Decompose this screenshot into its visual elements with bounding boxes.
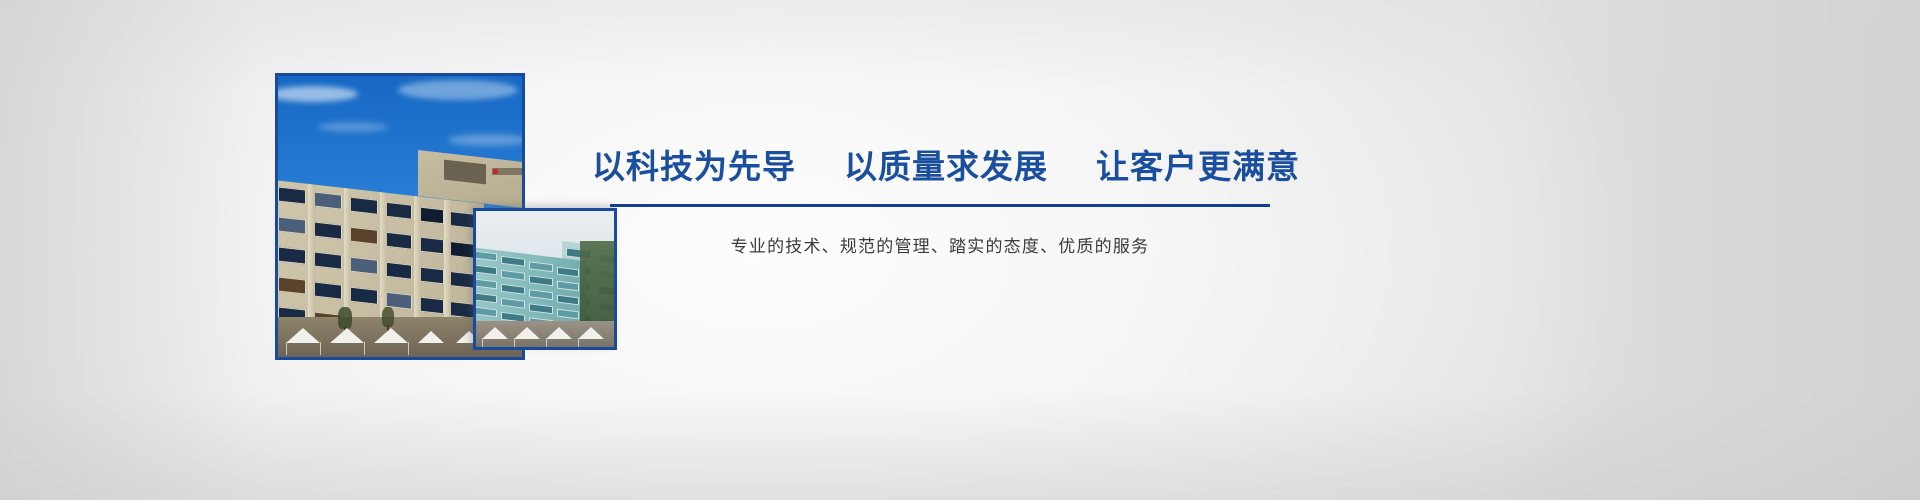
tent-icon [546,327,572,339]
slogan-phrase-1: 以科技为先导 [592,140,796,188]
secondary-photo-content [476,211,614,347]
cloud-icon [398,80,518,100]
secondary-glass-building-photo [473,208,617,350]
cloud-icon [318,122,388,132]
slogan-group: 以科技为先导 以质量求发展 让客户更满意 [592,142,1300,186]
horizontal-divider [610,204,1270,207]
tree-icon [382,307,394,327]
slogan-phrase-2: 以质量求发展 [844,140,1048,188]
tent-icon [578,327,604,339]
cloud-icon [448,134,522,146]
slogan-phrase-3: 让客户更满意 [1096,140,1300,188]
company-hero-banner: 以科技为先导 以质量求发展 让客户更满意 专业的技术、规范的管理、踏实的态度、优… [0,0,1920,500]
subtitle-text: 专业的技术、规范的管理、踏实的态度、优质的服务 [610,232,1270,257]
tent-icon [418,331,444,343]
tree-icon [338,307,352,329]
tent-icon [286,328,320,343]
tent-icon [374,328,408,343]
tree-icon [580,241,614,321]
tent-icon [482,327,508,339]
tent-icon [330,328,364,343]
tent-icon [514,327,540,339]
building-signage [492,168,522,175]
